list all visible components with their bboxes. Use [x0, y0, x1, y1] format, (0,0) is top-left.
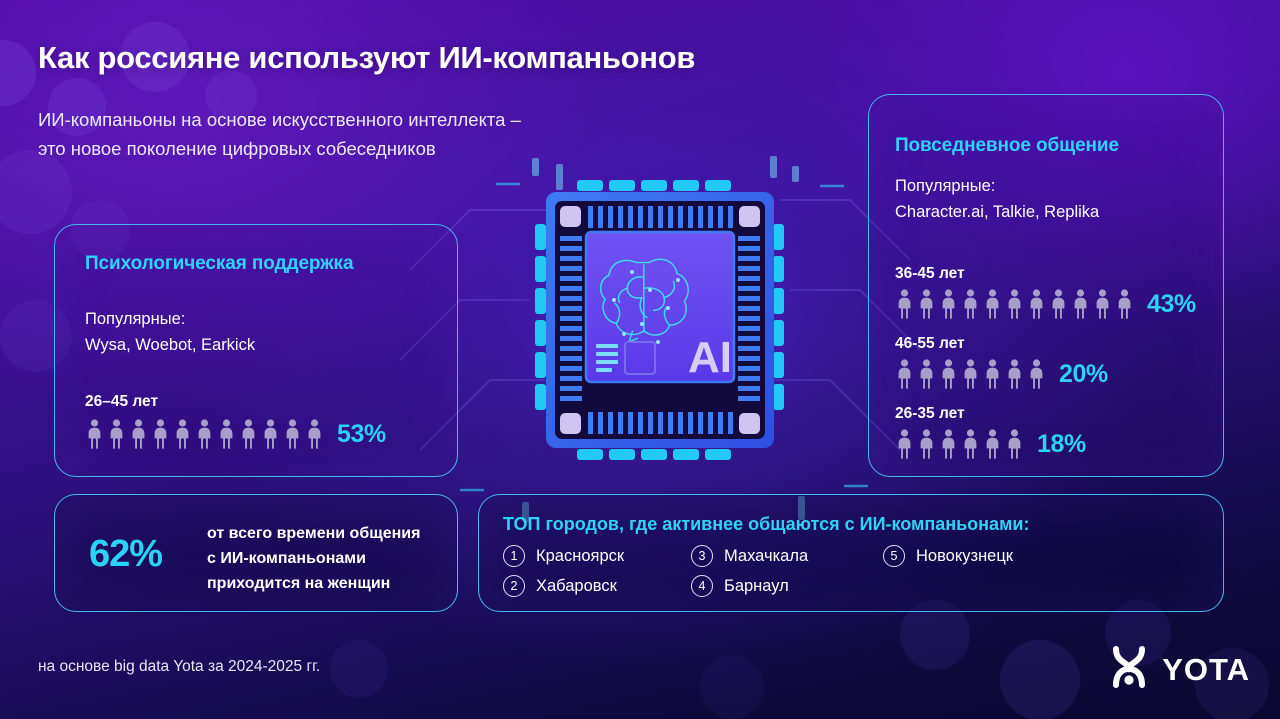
- stat-group-46-55: 46-55 лет 20%: [895, 335, 1108, 389]
- people-icons-46-55: [895, 359, 1046, 389]
- person-icon: [305, 419, 324, 449]
- person-icon: [1071, 289, 1090, 319]
- stat-group-26-35: 26-35 лет 18%: [895, 405, 1086, 459]
- page-subtitle: ИИ-компаньоны на основе искусственного и…: [38, 105, 521, 163]
- person-icon: [1005, 429, 1024, 459]
- card-psychological-popular-apps: Wysa, Woebot, Earkick: [85, 332, 255, 358]
- person-icon: [239, 419, 258, 449]
- person-icon: [961, 359, 980, 389]
- city-rank-badge-1: 1: [503, 545, 525, 567]
- person-icon: [261, 419, 280, 449]
- city-rank-badge-5: 5: [883, 545, 905, 567]
- person-icon: [895, 289, 914, 319]
- city-rank-badge-4: 4: [691, 575, 713, 597]
- city-item-5[interactable]: 5 Новокузнецк: [883, 545, 1013, 567]
- percent-26-45: 53%: [337, 420, 386, 449]
- women-share-text-line-1: от всего времени общения: [207, 521, 420, 546]
- yota-logo-icon: [1109, 645, 1149, 694]
- page-subtitle-line-2: это новое поколение цифровых собеседнико…: [38, 134, 521, 163]
- city-item-4[interactable]: 4 Барнаул: [691, 575, 789, 597]
- person-icon: [961, 429, 980, 459]
- person-icon: [983, 429, 1002, 459]
- city-rank-badge-2: 2: [503, 575, 525, 597]
- percent-46-55: 20%: [1059, 360, 1108, 389]
- card-everyday-communication: Повседневное общение Популярные: Charact…: [868, 94, 1224, 477]
- person-icon: [283, 419, 302, 449]
- person-icon: [1027, 289, 1046, 319]
- infographic-root: Как россияне используют ИИ-компаньонов И…: [0, 0, 1280, 719]
- city-name-5: Новокузнецк: [916, 547, 1013, 566]
- card-women-share: 62% от всего времени общения с ИИ-компан…: [54, 494, 458, 612]
- card-everyday-popular-apps: Character.ai, Talkie, Replika: [895, 199, 1099, 225]
- person-icon: [129, 419, 148, 449]
- city-name-2: Хабаровск: [536, 577, 617, 596]
- person-icon: [917, 289, 936, 319]
- person-icon: [1049, 289, 1068, 319]
- person-icon: [195, 419, 214, 449]
- card-psychological-support: Психологическая поддержка Популярные: Wy…: [54, 224, 458, 477]
- percent-26-35: 18%: [1037, 430, 1086, 459]
- person-icon: [173, 419, 192, 449]
- people-icons-26-35: [895, 429, 1024, 459]
- age-label-26-35: 26-35 лет: [895, 405, 1086, 423]
- city-item-2[interactable]: 2 Хабаровск: [503, 575, 617, 597]
- card-psychological-title: Психологическая поддержка: [85, 253, 353, 275]
- footer-source-note: на основе big data Yota за 2024-2025 гг.: [38, 658, 320, 676]
- person-icon: [917, 429, 936, 459]
- percent-36-45: 43%: [1147, 290, 1196, 319]
- yota-logo: YOTA: [1109, 645, 1250, 694]
- card-top-cities: ТОП городов, где активнее общаются с ИИ-…: [478, 494, 1224, 612]
- person-icon: [1005, 289, 1024, 319]
- person-icon: [895, 429, 914, 459]
- person-icon: [983, 359, 1002, 389]
- person-icon: [939, 429, 958, 459]
- yota-wordmark: YOTA: [1162, 652, 1250, 688]
- svg-text:AI: AI: [688, 333, 732, 382]
- age-label-46-55: 46-55 лет: [895, 335, 1108, 353]
- stat-group-26-45: 26–45 лет 53%: [85, 393, 386, 449]
- person-icon: [107, 419, 126, 449]
- women-share-text-line-2: с ИИ-компаньонами: [207, 546, 420, 571]
- person-icon: [1005, 359, 1024, 389]
- person-icon: [939, 289, 958, 319]
- person-icon: [1115, 289, 1134, 319]
- ai-chip-icon: AI: [492, 172, 828, 468]
- city-name-4: Барнаул: [724, 577, 789, 596]
- city-item-3[interactable]: 3 Махачкала: [691, 545, 808, 567]
- top-cities-title: ТОП городов, где активнее общаются с ИИ-…: [503, 514, 1029, 535]
- person-icon: [151, 419, 170, 449]
- person-icon: [939, 359, 958, 389]
- person-icon: [1027, 359, 1046, 389]
- city-rank-badge-3: 3: [691, 545, 713, 567]
- age-label-36-45: 36-45 лет: [895, 265, 1196, 283]
- card-everyday-popular-label: Популярные:: [895, 173, 995, 199]
- city-name-1: Красноярск: [536, 547, 624, 566]
- page-subtitle-line-1: ИИ-компаньоны на основе искусственного и…: [38, 105, 521, 134]
- person-icon: [85, 419, 104, 449]
- person-icon: [895, 359, 914, 389]
- person-icon: [961, 289, 980, 319]
- person-icon: [217, 419, 236, 449]
- women-share-percent: 62%: [89, 533, 162, 576]
- card-psychological-popular-label: Популярные:: [85, 306, 185, 332]
- person-icon: [917, 359, 936, 389]
- people-icons-36-45: [895, 289, 1134, 319]
- women-share-text-line-3: приходится на женщин: [207, 571, 420, 596]
- city-name-3: Махачкала: [724, 547, 808, 566]
- card-everyday-title: Повседневное общение: [895, 135, 1119, 157]
- page-title: Как россияне используют ИИ-компаньонов: [38, 40, 695, 76]
- people-icons-26-45: [85, 419, 324, 449]
- stat-group-36-45: 36-45 лет 43%: [895, 265, 1196, 319]
- person-icon: [1093, 289, 1112, 319]
- city-item-1[interactable]: 1 Красноярск: [503, 545, 624, 567]
- women-share-text: от всего времени общения с ИИ-компаньона…: [207, 521, 420, 596]
- person-icon: [983, 289, 1002, 319]
- age-label-26-45: 26–45 лет: [85, 393, 386, 411]
